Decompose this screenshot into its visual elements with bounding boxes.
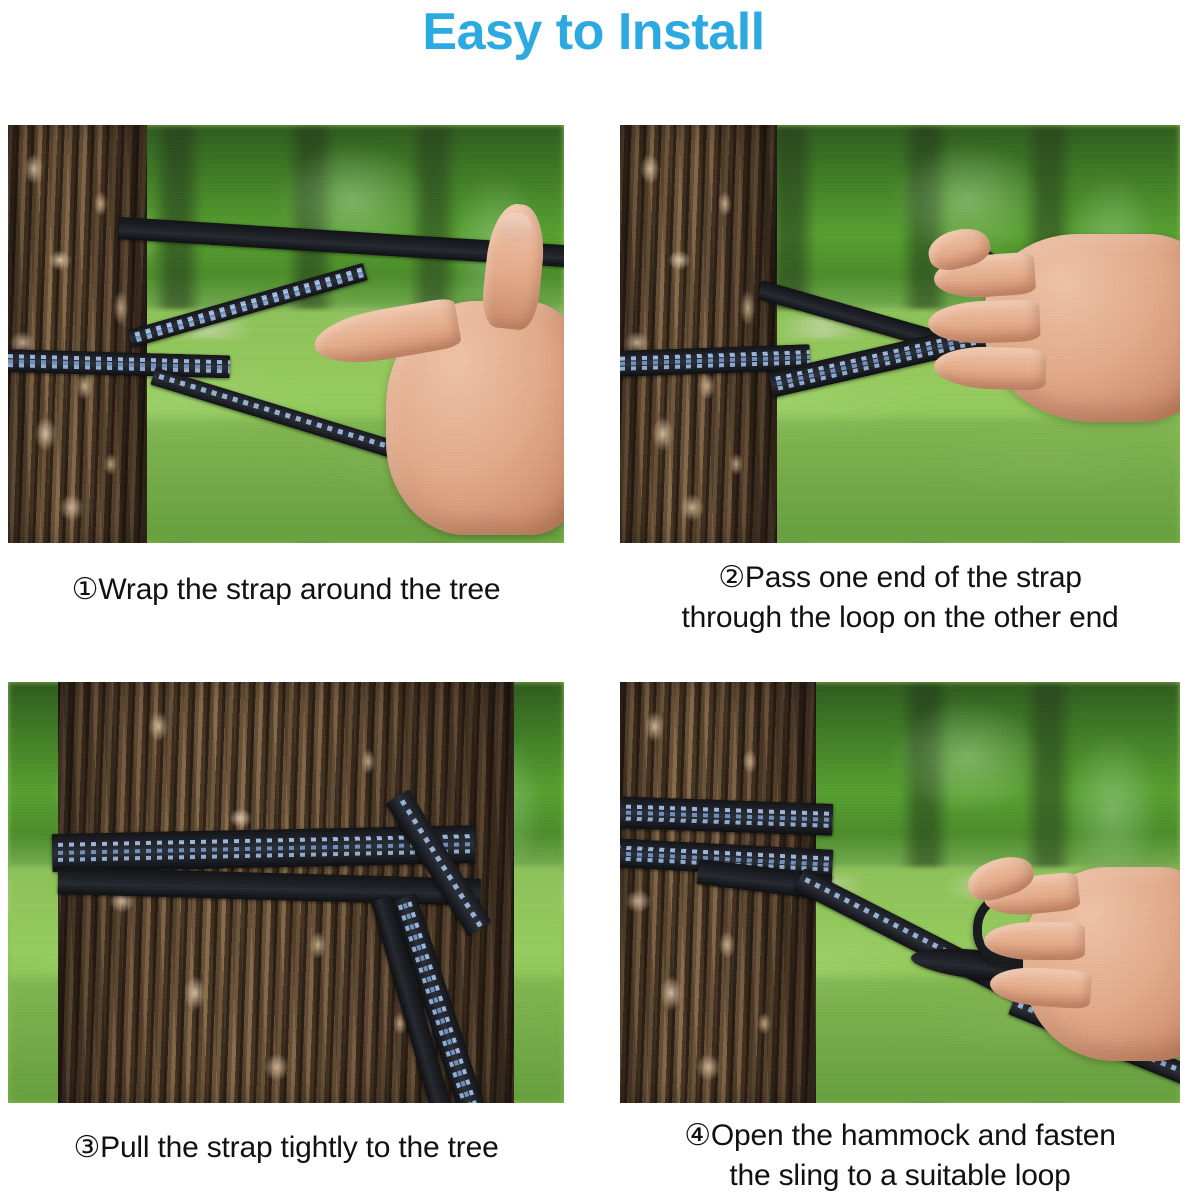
step-2 xyxy=(620,125,1180,543)
tree-trunk xyxy=(8,125,147,543)
step-1-caption-line-1: ①Wrap the strap around the tree xyxy=(8,570,564,610)
step-4-photo xyxy=(620,682,1180,1103)
step-2-caption: ②Pass one end of the strap through the l… xyxy=(620,558,1180,637)
step-2-caption-line-1: ②Pass one end of the strap xyxy=(620,558,1180,598)
step-3-photo xyxy=(8,682,564,1103)
thumb-nail xyxy=(501,213,531,242)
step-1 xyxy=(8,125,564,543)
step-2-caption-line-2: through the loop on the other end xyxy=(620,598,1180,638)
tree-trunk xyxy=(620,125,777,543)
step-4-caption-line-1: ④Open the hammock and fasten xyxy=(620,1116,1180,1156)
install-instructions-page: Easy to Install xyxy=(0,0,1187,1200)
step-3-caption: ③Pull the strap tightly to the tree xyxy=(8,1128,564,1168)
step-4 xyxy=(620,682,1180,1103)
step-4-caption-line-2: the sling to a suitable loop xyxy=(620,1156,1180,1196)
step-1-caption: ①Wrap the strap around the tree xyxy=(8,570,564,610)
finger-2 xyxy=(984,922,1085,960)
step-1-photo xyxy=(8,125,564,543)
steps-grid: ①Wrap the strap around the tree xyxy=(0,0,1187,1200)
step-2-photo xyxy=(620,125,1180,543)
step-3-caption-line-1: ③Pull the strap tightly to the tree xyxy=(8,1128,564,1168)
step-3 xyxy=(8,682,564,1103)
step-4-caption: ④Open the hammock and fasten the sling t… xyxy=(620,1116,1180,1195)
